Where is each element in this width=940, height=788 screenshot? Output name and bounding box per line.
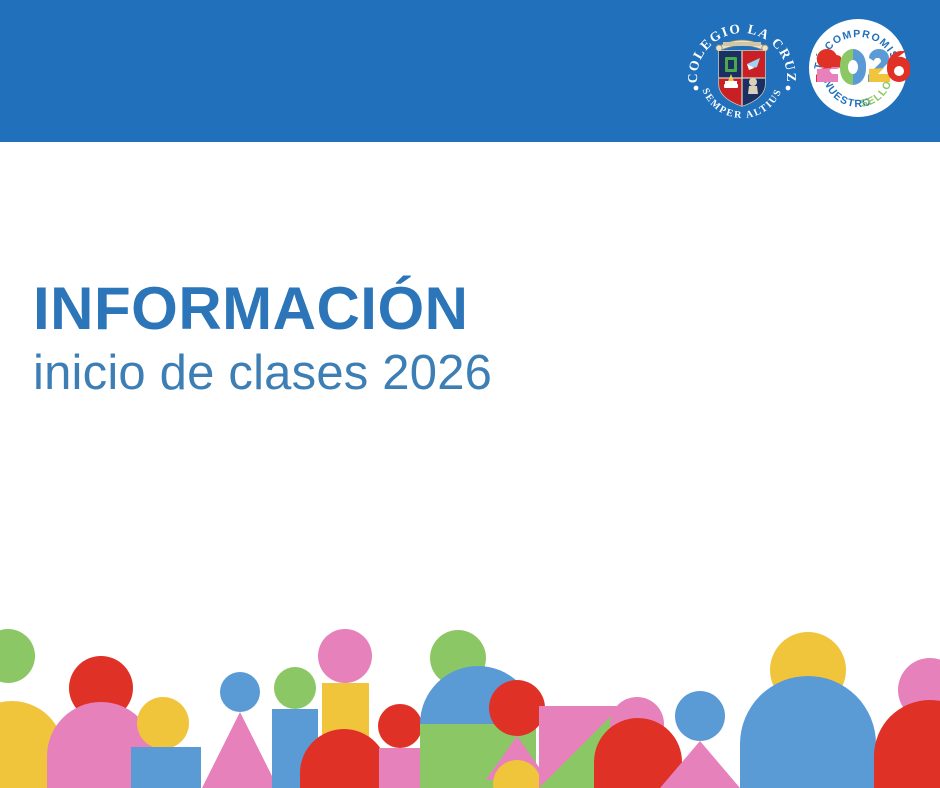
page-subtitle: inicio de clases 2026	[33, 345, 733, 403]
colegio-la-cruz-crest-logo: COLEGIO LA CRUZ SEMPER ALTIUS	[683, 12, 801, 130]
compromiso-2026-seal-badge: TÚ COMPROMISO NUESTRO SELLO	[806, 16, 910, 120]
people-shapes-illustration	[0, 628, 940, 788]
poster-page: COLEGIO LA CRUZ SEMPER ALTIUS	[0, 0, 940, 788]
page-title: INFORMACIÓN	[33, 278, 733, 339]
title-block: INFORMACIÓN inicio de clases 2026	[33, 278, 733, 403]
header-bar: COLEGIO LA CRUZ SEMPER ALTIUS	[0, 0, 940, 142]
